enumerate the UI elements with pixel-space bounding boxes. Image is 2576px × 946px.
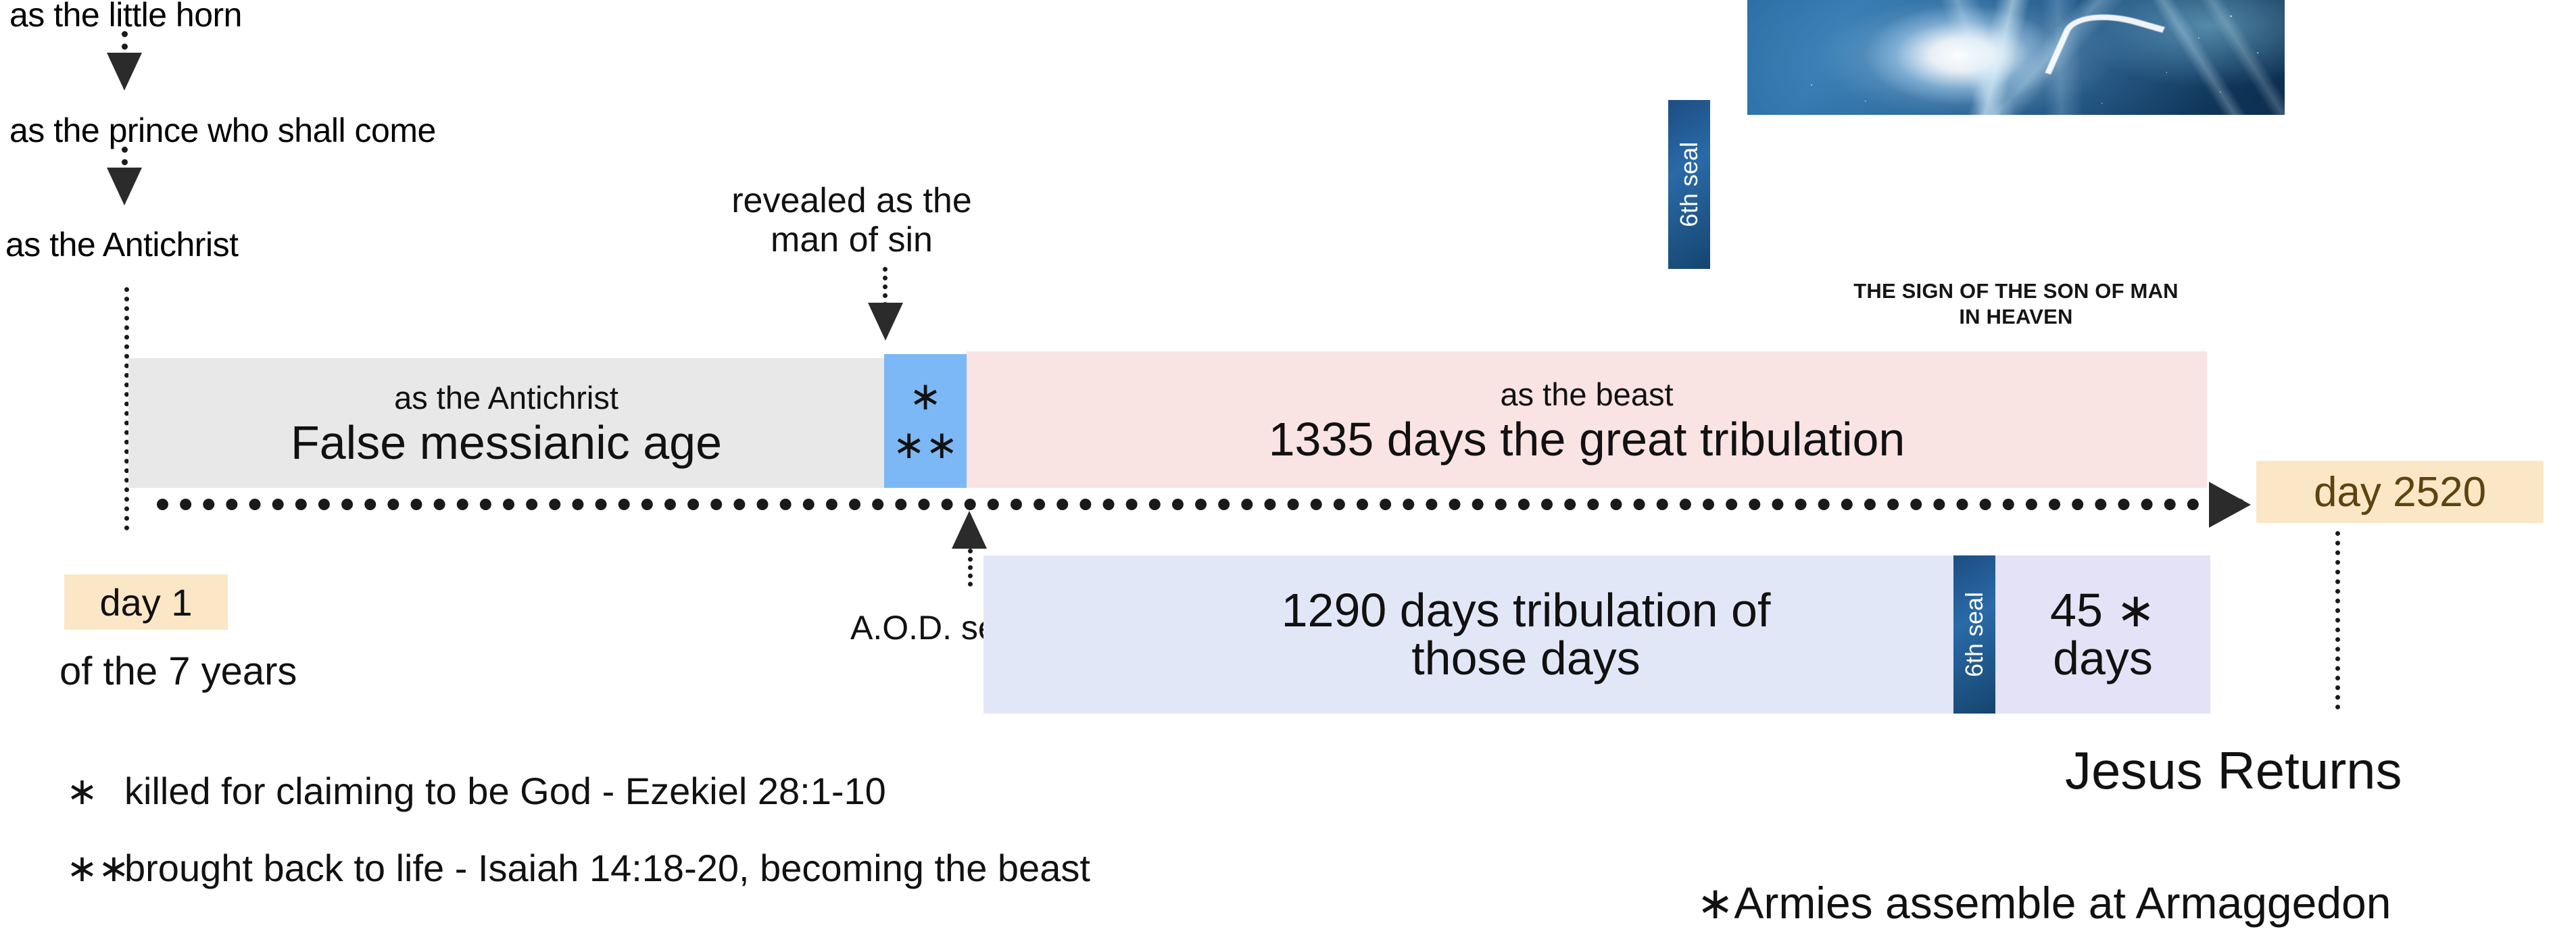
aod-arrow-icon bbox=[952, 511, 987, 549]
caption-line1: THE SIGN OF THE SON OF MAN bbox=[1747, 278, 2285, 304]
footnote-1-text: killed for claiming to be God - Ezekiel … bbox=[124, 770, 886, 812]
callout-revealed-man-of-sin: revealed as the man of sin bbox=[669, 181, 1034, 259]
caption-line2: IN HEAVEN bbox=[1747, 304, 2285, 330]
sign-of-son-of-man-image bbox=[1747, 0, 2285, 115]
bar-great-tribulation-sub: as the beast bbox=[1500, 376, 1673, 413]
prophecy-timeline-diagram: as the little horn as the prince who sha… bbox=[0, 0, 2576, 946]
bar-great-tribulation: as the beast 1335 days the great tribula… bbox=[967, 351, 2207, 488]
star-double: ∗∗ bbox=[892, 421, 958, 470]
callout-revealed-arrow-icon bbox=[868, 303, 903, 341]
bar-tribulation-of-those-days: 1290 days tribulation of those days bbox=[983, 555, 1953, 714]
day-2520-chip: day 2520 bbox=[2256, 461, 2544, 523]
bar-tribulation-main-line2: those days bbox=[1411, 634, 1641, 682]
bar-false-messianic-age-sub: as the Antichrist bbox=[394, 379, 618, 416]
sixth-seal-tab-lower: 6th seal bbox=[1953, 555, 1995, 714]
bar-great-tribulation-main: 1335 days the great tribulation bbox=[1269, 416, 1905, 464]
jesus-returns-label: Jesus Returns bbox=[2065, 740, 2402, 801]
day-1-chip: day 1 bbox=[64, 574, 228, 630]
timeline-axis-arrowhead-icon bbox=[2209, 482, 2251, 528]
chain-label-little-horn: as the little horn bbox=[9, 0, 242, 33]
bar-45-days-line2: days bbox=[2053, 634, 2153, 682]
footnote-2-text: brought back to life - Isaiah 14:18-20, … bbox=[124, 847, 1090, 889]
bar-forty-five-days: 45 ∗ days bbox=[1995, 555, 2210, 714]
sign-of-son-of-man-caption: THE SIGN OF THE SON OF MAN IN HEAVEN bbox=[1747, 278, 2285, 330]
light-swoosh-icon bbox=[2045, 2, 2165, 99]
bar-false-messianic-age-main: False messianic age bbox=[291, 419, 722, 467]
chain-arrow-1-icon bbox=[107, 53, 142, 91]
bar-45-days-line1: 45 ∗ bbox=[2050, 587, 2156, 634]
day-1-sublabel: of the 7 years bbox=[59, 649, 297, 694]
day-1-label: day 1 bbox=[100, 580, 193, 624]
bar-death-and-resurrection: ∗ ∗∗ bbox=[884, 354, 967, 488]
bar-tribulation-main-line1: 1290 days tribulation of bbox=[1282, 587, 1771, 634]
footnote-2-mark: ∗∗ bbox=[66, 846, 124, 891]
timeline-end-guideline bbox=[2335, 531, 2340, 709]
armageddon-mark: ∗ bbox=[1697, 878, 1734, 928]
callout-revealed-line1: revealed as the bbox=[669, 181, 1034, 220]
footnote-1: ∗killed for claiming to be God - Ezekiel… bbox=[66, 769, 886, 814]
day-2520-label: day 2520 bbox=[2314, 468, 2486, 516]
chain-label-prince: as the prince who shall come bbox=[9, 113, 436, 149]
sixth-seal-tab-top-label: 6th seal bbox=[1675, 142, 1703, 227]
bar-false-messianic-age: as the Antichrist False messianic age bbox=[128, 358, 884, 488]
timeline-axis-dotted bbox=[157, 499, 2245, 510]
armageddon-note: ∗Armies assemble at Armaggedon bbox=[1697, 877, 2391, 929]
footnote-2: ∗∗brought back to life - Isaiah 14:18-20… bbox=[66, 846, 1090, 891]
aod-connector bbox=[968, 549, 973, 587]
armageddon-text: Armies assemble at Armaggedon bbox=[1734, 878, 2391, 928]
footnote-1-mark: ∗ bbox=[66, 769, 124, 814]
chain-label-antichrist: as the Antichrist bbox=[5, 227, 238, 263]
star-single: ∗ bbox=[909, 372, 942, 422]
sixth-seal-tab-lower-label: 6th seal bbox=[1960, 592, 1989, 677]
chain-arrow-2-icon bbox=[107, 168, 142, 205]
callout-revealed-line2: man of sin bbox=[669, 220, 1034, 259]
sixth-seal-tab-top: 6th seal bbox=[1668, 100, 1710, 269]
